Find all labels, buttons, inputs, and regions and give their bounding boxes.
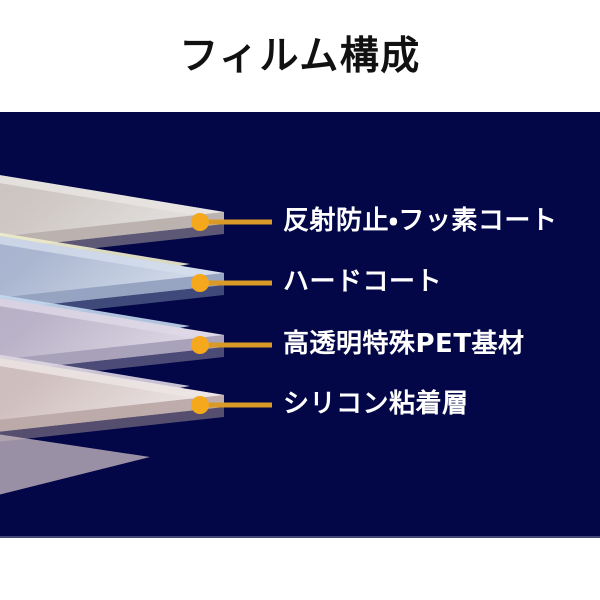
callout-dot-2: [191, 274, 209, 292]
layer-stack-diagram: 反射防止・フッ素コート ハードコート 高透明特殊PET基材 シリコン粘着層: [0, 112, 600, 538]
callout-dot-1: [191, 213, 209, 231]
callout-dot-3: [191, 336, 209, 354]
footer-whitespace: [0, 538, 600, 600]
page-title: フィルム構成: [179, 37, 420, 76]
layer-label-2: ハードコート: [283, 269, 442, 295]
layer-label-3: 高透明特殊PET基材: [283, 331, 525, 357]
layer-label-4: シリコン粘着層: [283, 391, 469, 417]
diagram-panel: 反射防止・フッ素コート ハードコート 高透明特殊PET基材 シリコン粘着層: [0, 112, 600, 538]
layer-stack-svg: [0, 112, 600, 538]
screenshot-root: フィルム構成: [0, 0, 600, 600]
callout-dot-4: [191, 396, 209, 414]
layer-label-1: 反射防止・フッ素コート: [283, 208, 557, 234]
callout-group-2: [191, 274, 272, 292]
callout-group-4: [191, 396, 272, 414]
title-band: フィルム構成: [0, 0, 600, 112]
callout-group-3: [191, 336, 272, 354]
callout-group-1: [191, 213, 272, 231]
